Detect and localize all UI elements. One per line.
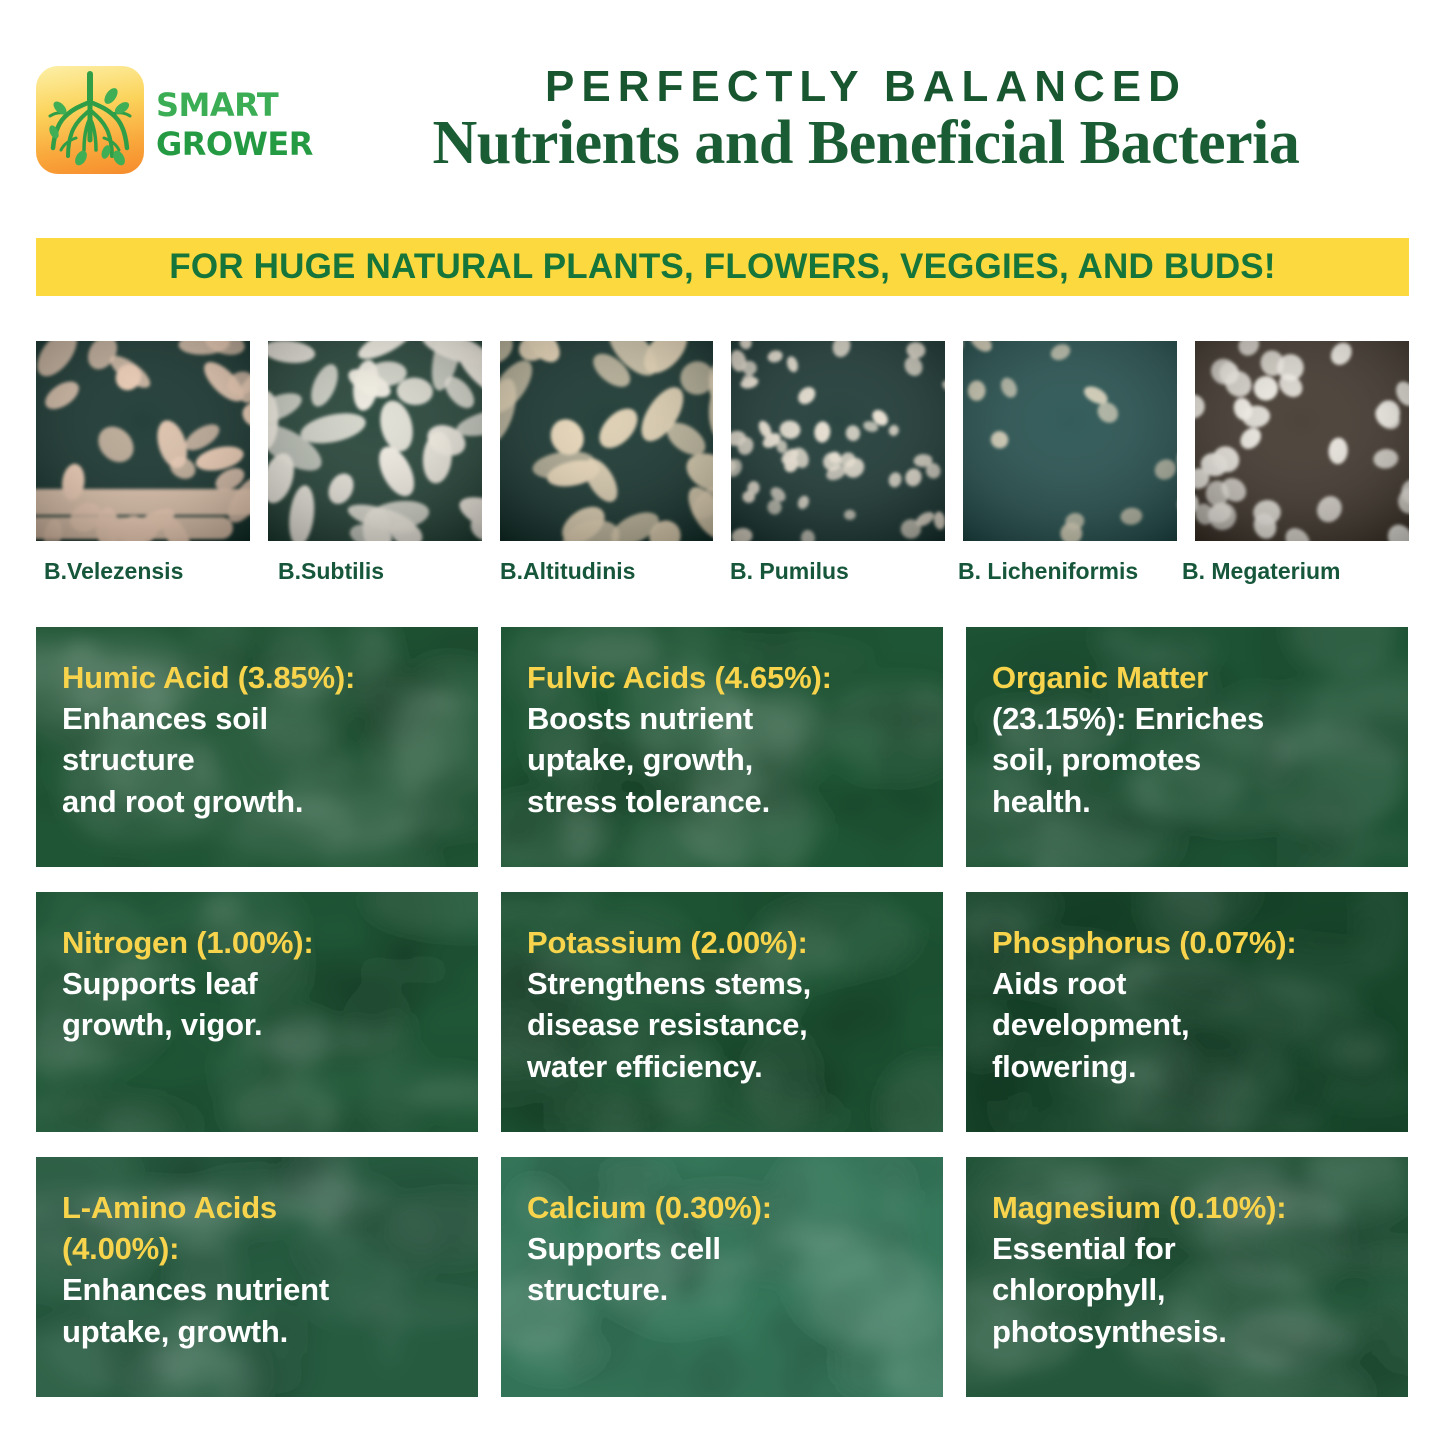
- petri-dish-b-subtilis: [268, 341, 482, 541]
- nutrient-card-text-6: Phosphorus (0.07%):Aids rootdevelopment,…: [992, 922, 1382, 1087]
- header-kicker: PERFECTLY BALANCED: [321, 64, 1411, 110]
- nutrient-body-line: soil, promotes: [992, 742, 1201, 777]
- nutrient-body-line: water efficiency.: [527, 1049, 763, 1084]
- nutrient-card-6: Phosphorus (0.07%):Aids rootdevelopment,…: [966, 892, 1408, 1132]
- bacteria-label-6: B. Megaterium: [1182, 558, 1340, 585]
- nutrient-body-line: and root growth.: [62, 784, 303, 819]
- bacteria-label-4: B. Pumilus: [730, 558, 849, 585]
- nutrient-title-line: Fulvic Acids (4.65%):: [527, 660, 832, 695]
- nutrient-body-line: development,: [992, 1007, 1189, 1042]
- nutrient-body-line: Aids root: [992, 966, 1126, 1001]
- nutrient-body-line: Essential for: [992, 1231, 1175, 1266]
- nutrient-body-line: Enhances nutrient: [62, 1272, 329, 1307]
- bacteria-label-row: B.VelezensisB.SubtilisB.AltitudinisB. Pu…: [36, 558, 1416, 592]
- nutrient-body-line: Supports leaf: [62, 966, 257, 1001]
- page-title: Nutrients and Beneficial Bacteria: [321, 112, 1411, 175]
- nutrient-card-1: Humic Acid (3.85%):Enhances soilstructur…: [36, 627, 478, 867]
- nutrient-card-4: Nitrogen (1.00%):Supports leafgrowth, vi…: [36, 892, 478, 1132]
- brand-logo[interactable]: Smart Grower: [36, 66, 313, 174]
- petri-dish-b-velezensis: [36, 341, 250, 541]
- nutrient-body-line: Enhances soil: [62, 701, 268, 736]
- nutrient-title-line: Calcium (0.30%):: [527, 1190, 772, 1225]
- nutrient-card-3: Organic Matter(23.15%): Enrichessoil, pr…: [966, 627, 1408, 867]
- nutrient-card-text-7: L-Amino Acids(4.00%):Enhances nutrientup…: [62, 1187, 452, 1352]
- brand-name-line2: Grower: [156, 120, 313, 159]
- promo-banner: FOR HUGE NATURAL PLANTS, FLOWERS, VEGGIE…: [36, 238, 1409, 296]
- nutrient-body-line: disease resistance,: [527, 1007, 808, 1042]
- nutrient-body-line: photosynthesis.: [992, 1314, 1227, 1349]
- nutrient-title-line: Organic Matter: [992, 660, 1208, 695]
- nutrient-body-line: growth, vigor.: [62, 1007, 262, 1042]
- petri-dish-b-pumilus: [731, 341, 945, 541]
- nutrient-title-line: Potassium (2.00%):: [527, 925, 808, 960]
- nutrient-body-line: health.: [992, 784, 1091, 819]
- nutrient-card-5: Potassium (2.00%):Strengthens stems,dise…: [501, 892, 943, 1132]
- nutrient-card-7: L-Amino Acids(4.00%):Enhances nutrientup…: [36, 1157, 478, 1397]
- nutrient-title-line: (4.00%):: [62, 1231, 179, 1266]
- nutrient-title-line: Nitrogen (1.00%):: [62, 925, 314, 960]
- bacteria-label-5: B. Licheniformis: [958, 558, 1138, 585]
- nutrient-card-text-9: Magnesium (0.10%):Essential forchlorophy…: [992, 1187, 1382, 1352]
- nutrient-body-line: stress tolerance.: [527, 784, 770, 819]
- bacteria-label-1: B.Velezensis: [44, 558, 183, 585]
- nutrient-card-grid: Humic Acid (3.85%):Enhances soilstructur…: [36, 627, 1409, 1397]
- nutrient-title-line: Phosphorus (0.07%):: [992, 925, 1297, 960]
- header-titles: PERFECTLY BALANCED Nutrients and Benefic…: [313, 64, 1411, 175]
- nutrient-title-line: Magnesium (0.10%):: [992, 1190, 1286, 1225]
- promo-banner-text: FOR HUGE NATURAL PLANTS, FLOWERS, VEGGIE…: [169, 247, 1275, 287]
- petri-dish-b-licheniformis: [963, 341, 1177, 541]
- brand-wordmark: Smart Grower: [156, 81, 313, 158]
- plant-root-icon: [36, 66, 144, 174]
- bacteria-image-strip: [36, 341, 1409, 541]
- nutrient-card-text-1: Humic Acid (3.85%):Enhances soilstructur…: [62, 657, 452, 822]
- nutrient-body-line: uptake, growth,: [527, 742, 753, 777]
- nutrient-card-9: Magnesium (0.10%):Essential forchlorophy…: [966, 1157, 1408, 1397]
- nutrient-body-line: chlorophyll,: [992, 1272, 1165, 1307]
- nutrient-card-text-3: Organic Matter(23.15%): Enrichessoil, pr…: [992, 657, 1382, 822]
- infographic-page: Smart Grower PERFECTLY BALANCED Nutrient…: [0, 0, 1445, 1445]
- page-header: Smart Grower PERFECTLY BALANCED Nutrient…: [36, 55, 1411, 185]
- nutrient-card-text-2: Fulvic Acids (4.65%):Boosts nutrientupta…: [527, 657, 917, 822]
- petri-dish-b-megaterium: [1195, 341, 1409, 541]
- nutrient-card-2: Fulvic Acids (4.65%):Boosts nutrientupta…: [501, 627, 943, 867]
- nutrient-card-text-8: Calcium (0.30%):Supports cellstructure.: [527, 1187, 917, 1311]
- nutrient-title-line: Humic Acid (3.85%):: [62, 660, 355, 695]
- nutrient-body-line: (23.15%): Enriches: [992, 701, 1264, 736]
- nutrient-title-line: L-Amino Acids: [62, 1190, 277, 1225]
- nutrient-body-line: Boosts nutrient: [527, 701, 753, 736]
- bacteria-label-2: B.Subtilis: [278, 558, 384, 585]
- nutrient-body-line: uptake, growth.: [62, 1314, 288, 1349]
- petri-dish-b-altitudinis: [500, 341, 714, 541]
- nutrient-body-line: flowering.: [992, 1049, 1136, 1084]
- nutrient-body-line: Strengthens stems,: [527, 966, 811, 1001]
- nutrient-card-8: Calcium (0.30%):Supports cellstructure.: [501, 1157, 943, 1397]
- nutrient-body-line: Supports cell: [527, 1231, 721, 1266]
- nutrient-card-text-5: Potassium (2.00%):Strengthens stems,dise…: [527, 922, 917, 1087]
- nutrient-card-text-4: Nitrogen (1.00%):Supports leafgrowth, vi…: [62, 922, 452, 1046]
- nutrient-body-line: structure: [62, 742, 195, 777]
- nutrient-body-line: structure.: [527, 1272, 668, 1307]
- bacteria-label-3: B.Altitudinis: [500, 558, 635, 585]
